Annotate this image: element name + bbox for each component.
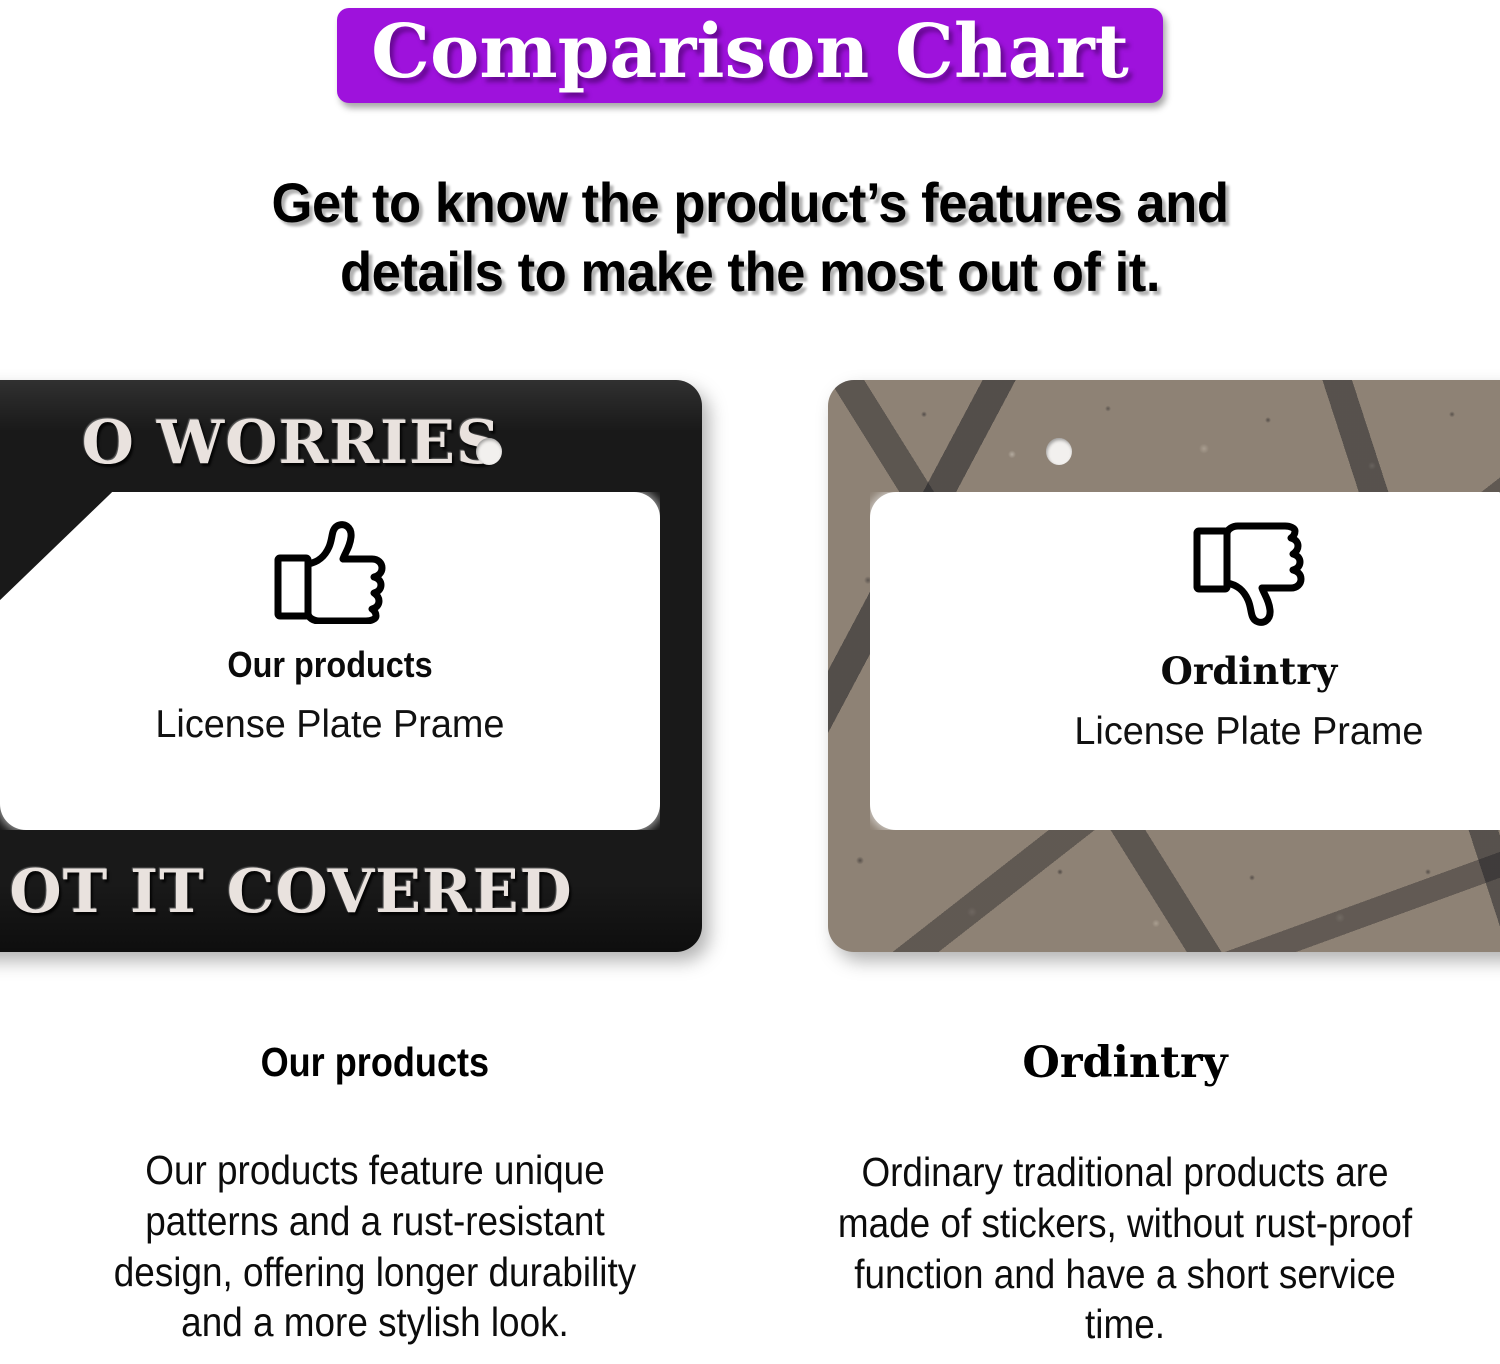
- left-plate-bottom-band-text: OT IT COVERED: [0, 862, 702, 922]
- left-plate-product-name: License Plate Prame: [155, 705, 504, 744]
- left-plate-window: Our products License Plate Prame: [0, 492, 660, 830]
- right-product-plate-frame: Ordintry License Plate Prame: [828, 380, 1500, 952]
- page-title: Comparison Chart: [371, 14, 1129, 91]
- subtitle-line-1: Get to know the product’s features and: [45, 168, 1455, 237]
- right-plate-brand: Ordintry: [1161, 653, 1338, 690]
- left-column-title: Our products: [261, 1042, 490, 1083]
- page-subtitle: Get to know the product’s features and d…: [45, 168, 1455, 307]
- left-product-plate-frame: O WORRIES OT IT COVERED Our products Lic…: [0, 380, 702, 952]
- left-plate-top-band-text: O WORRIES: [0, 413, 702, 473]
- right-plate-mounting-hole: [1046, 438, 1072, 465]
- right-plate-window: Ordintry License Plate Prame: [870, 492, 1500, 830]
- thumbs-down-icon: [1190, 520, 1308, 635]
- subtitle-line-2: details to make the most out of it.: [45, 237, 1455, 306]
- right-plate-product-name: License Plate Prame: [1074, 712, 1423, 751]
- title-banner: Comparison Chart: [337, 8, 1163, 103]
- comparison-frames: O WORRIES OT IT COVERED Our products Lic…: [0, 372, 1500, 962]
- title-banner-wrapper: Comparison Chart: [0, 8, 1500, 103]
- right-column-body: Ordinary traditional products are made o…: [837, 1147, 1413, 1350]
- right-column-title: Ordintry: [1022, 1042, 1227, 1085]
- thumbs-up-icon: [271, 520, 389, 629]
- left-plate-mounting-hole: [476, 438, 502, 465]
- left-column-body: Our products feature unique patterns and…: [87, 1145, 663, 1348]
- right-plate-window-content: Ordintry License Plate Prame: [870, 492, 1500, 830]
- left-description-column: Our products Our products feature unique…: [0, 1020, 750, 1364]
- right-description-column: Ordintry Ordinary traditional products a…: [750, 1020, 1500, 1364]
- left-plate-brand: Our products: [227, 647, 432, 683]
- comparison-descriptions: Our products Our products feature unique…: [0, 1020, 1500, 1364]
- left-plate-window-content: Our products License Plate Prame: [0, 492, 660, 830]
